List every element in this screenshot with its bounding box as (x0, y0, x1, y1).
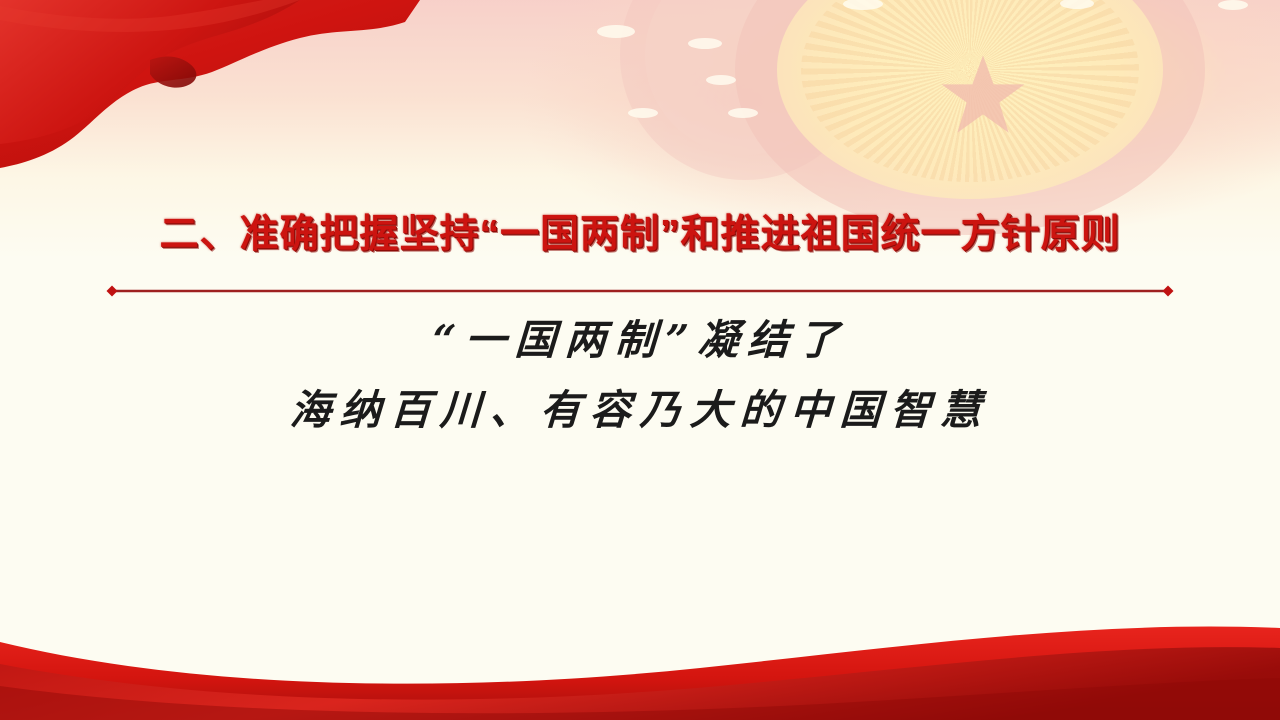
slide-content: 二、准确把握坚持“一国两制”和推进祖国统一方针原则 “一国两制”凝结了 海纳百川… (0, 0, 1280, 720)
page-title: 二、准确把握坚持“一国两制”和推进祖国统一方针原则 (0, 203, 1280, 259)
body-line: “一国两制”凝结了 (0, 305, 1280, 375)
body-line: 海纳百川、有容乃大的中国智慧 (0, 375, 1280, 445)
presentation-slide: 二、准确把握坚持“一国两制”和推进祖国统一方针原则 “一国两制”凝结了 海纳百川… (0, 0, 1280, 720)
body-text-block: “一国两制”凝结了 海纳百川、有容乃大的中国智慧 (0, 305, 1280, 445)
divider (105, 285, 1175, 297)
